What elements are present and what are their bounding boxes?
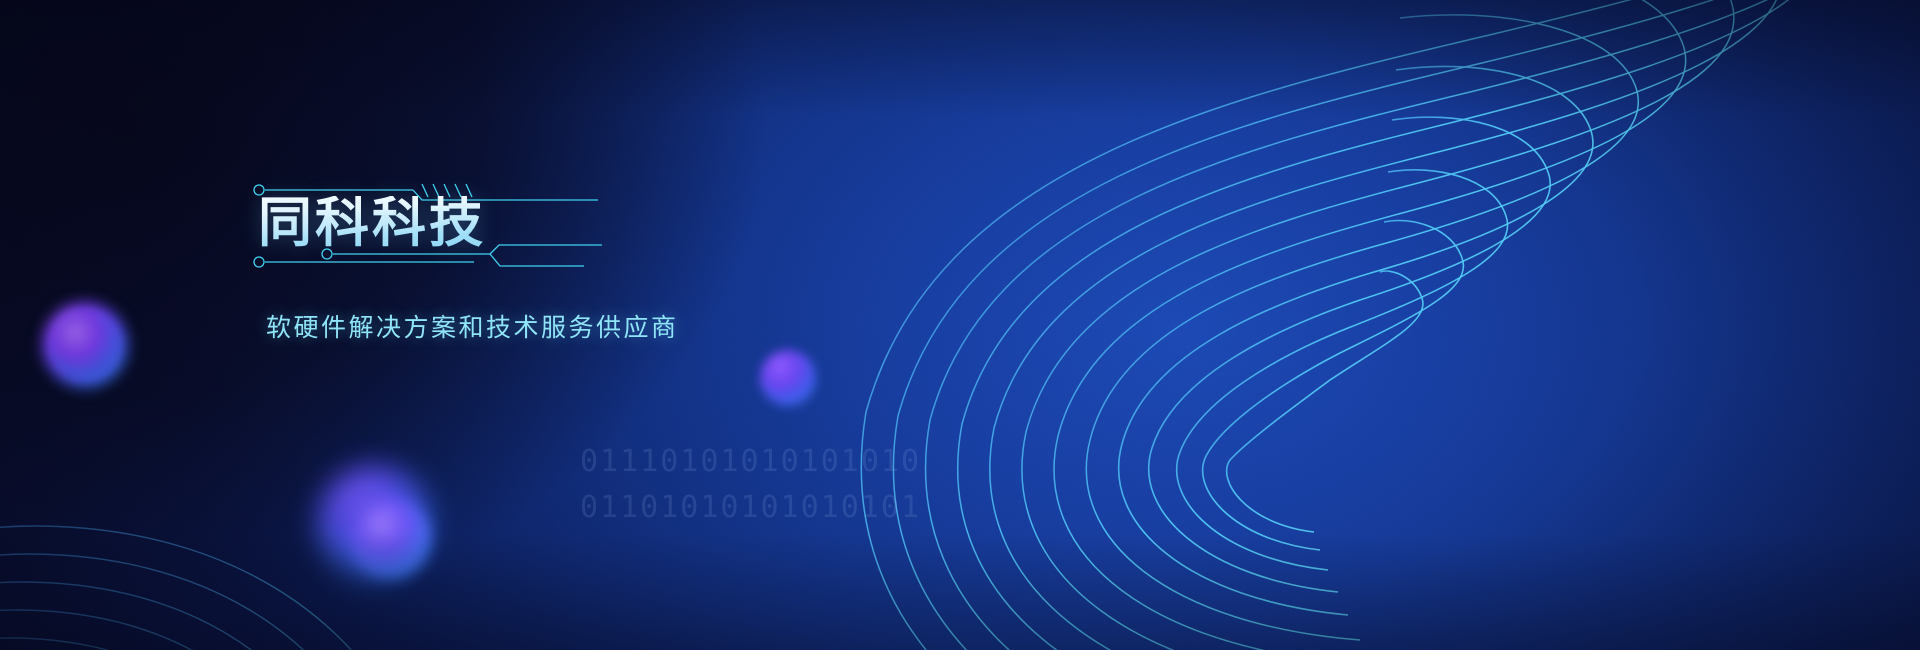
page-title: 同科科技 [258, 196, 486, 250]
hero-banner: 01110101010101010 01101010101010101 [0, 0, 1920, 650]
banner-content: 同科科技 同科科技 软硬件解决方案和技术服务供应商 [250, 178, 870, 344]
page-subtitle: 软硬件解决方案和技术服务供应商 [266, 308, 870, 344]
tech-decoration-frame: 同科科技 同科科技 [250, 178, 602, 270]
